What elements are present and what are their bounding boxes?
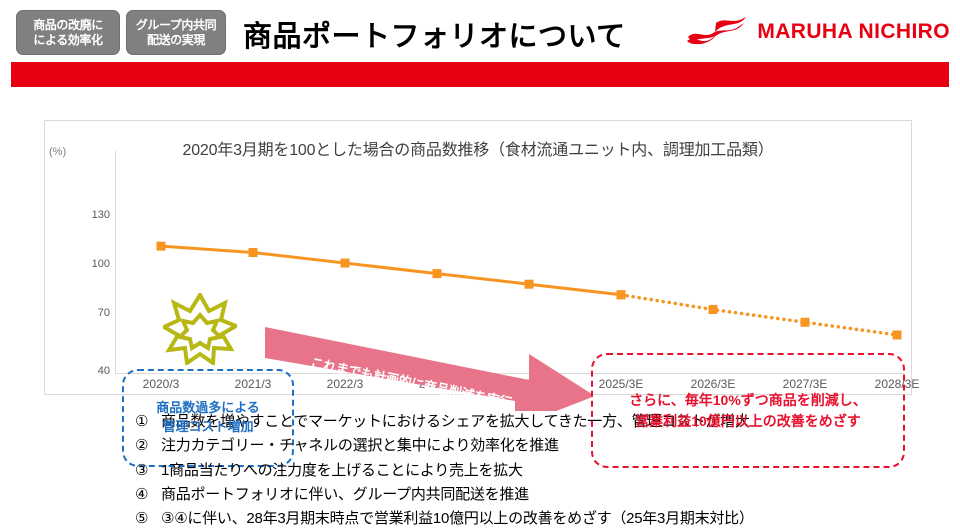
brand-logo: MARUHA NICHIRO <box>686 17 950 47</box>
progress-arrow: これまでも計画的に商品削減を実行 <box>263 326 593 411</box>
bullet-text: ③④に伴い、28年3月期末時点で営業利益10億円以上の改善をめざす（25年3月期… <box>161 507 754 531</box>
bullet-text: 1商品当たりへの注力度を上げることにより売上を拡大 <box>161 459 523 483</box>
slide-root: 商品の改廃に による効率化 グループ内共同 配送の実現 商品ポートフォリオについ… <box>0 0 960 530</box>
bullet-number: ⑤ <box>135 507 161 531</box>
brand-logo-text: MARUHA NICHIRO <box>757 20 950 44</box>
series-line-0 <box>161 246 621 295</box>
data-marker <box>801 318 810 327</box>
data-marker <box>525 280 534 289</box>
bullet-item: ③1商品当たりへの注力度を上げることにより売上を拡大 <box>135 459 955 483</box>
callout-cost-increase-text: 商品数過多による 管理コスト増加 <box>156 399 260 437</box>
series-line-1 <box>621 295 897 335</box>
data-marker <box>893 330 902 339</box>
starburst-icon <box>163 293 237 365</box>
maruha-wave-icon <box>686 17 748 47</box>
header-tag-2: グループ内共同 配送の実現 <box>126 10 226 55</box>
chart-frame: 2020年3月期を100とした場合の商品数推移（食材流通ユニット内、調理加工品類… <box>44 120 912 395</box>
bullet-number: ④ <box>135 483 161 507</box>
data-marker <box>433 269 442 278</box>
data-marker <box>249 248 258 257</box>
page-title: 商品ポートフォリオについて <box>243 13 626 55</box>
bullet-text: 商品ポートフォリオに伴い、グループ内共同配送を推進 <box>161 483 529 507</box>
bullet-number: ③ <box>135 459 161 483</box>
callout-reduction-target-text: さらに、毎年10%ずつ商品を削減し、 営業利益10億円以上の改善をめざす <box>629 390 867 432</box>
data-marker <box>617 290 626 299</box>
bullet-item: ②注力カテゴリー・チャネルの選択と集中により効率化を推進 <box>135 434 955 458</box>
data-marker <box>709 305 718 314</box>
bullet-item: ④商品ポートフォリオに伴い、グループ内共同配送を推進 <box>135 483 955 507</box>
header-red-bar <box>11 62 949 87</box>
bullet-text: 注力カテゴリー・チャネルの選択と集中により効率化を推進 <box>161 434 559 458</box>
bullet-item: ⑤③④に伴い、28年3月期末時点で営業利益10億円以上の改善をめざす（25年3月… <box>135 507 955 531</box>
data-marker <box>341 259 350 268</box>
header-tag-1: 商品の改廃に による効率化 <box>16 10 120 55</box>
bullet-number: ② <box>135 434 161 458</box>
data-marker <box>157 242 166 251</box>
